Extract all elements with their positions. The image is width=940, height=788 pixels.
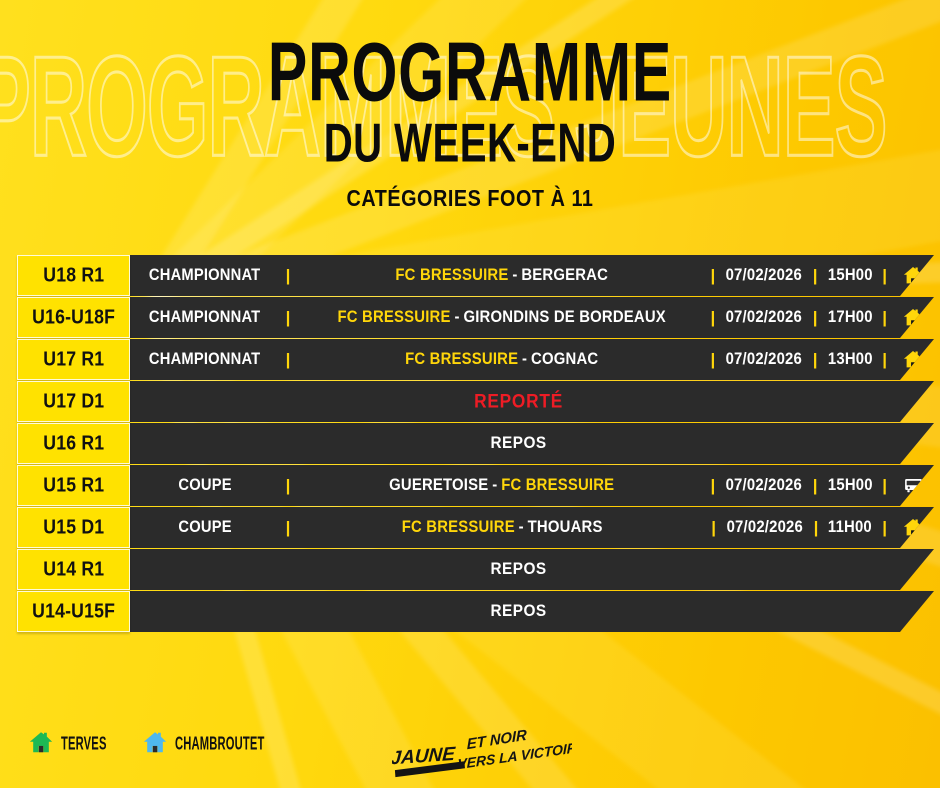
home-icon bbox=[896, 265, 930, 286]
separator-pipe: | bbox=[879, 267, 890, 284]
category-label: U17 R1 bbox=[43, 348, 104, 372]
legend-item: TERVES bbox=[28, 730, 118, 755]
match-team-away: BERGERAC bbox=[521, 266, 608, 285]
match-team-home: FC BRESSUIRE bbox=[405, 350, 518, 369]
house-icon bbox=[142, 730, 168, 755]
schedule-row: U14-U15FREPOS bbox=[0, 591, 940, 632]
match-meta: |07/02/2026|11H00| bbox=[708, 519, 896, 537]
separator-pipe: | bbox=[879, 351, 890, 368]
schedule-row: U18 R1CHAMPIONNAT|FC BRESSUIRE-BERGERAC|… bbox=[0, 255, 940, 296]
category-badge: U16 R1 bbox=[17, 423, 130, 464]
separator-pipe: | bbox=[879, 477, 890, 494]
separator: | bbox=[280, 309, 296, 326]
legend-label: TERVES bbox=[61, 732, 107, 753]
match-date: 07/02/2026 bbox=[720, 350, 808, 369]
separator-pipe: | bbox=[708, 519, 719, 536]
row-content-bar: REPOS bbox=[130, 549, 934, 590]
category-badge: U14 R1 bbox=[17, 549, 130, 590]
separator-pipe: | bbox=[284, 309, 293, 326]
separator-pipe: | bbox=[707, 351, 718, 368]
category-label: U16-U18F bbox=[32, 306, 115, 330]
match-meta: |07/02/2026|13H00| bbox=[707, 351, 896, 369]
schedule-row: U16 R1REPOS bbox=[0, 423, 940, 464]
status-postponed: REPORTÉ bbox=[146, 390, 918, 412]
schedule-row: U17 R1CHAMPIONNAT|FC BRESSUIRE-COGNAC|07… bbox=[0, 339, 940, 380]
competition-cell: COUPE bbox=[130, 477, 280, 495]
match-time: 17H00 bbox=[822, 308, 878, 327]
separator-pipe: | bbox=[707, 309, 718, 326]
row-content-bar: CHAMPIONNAT|FC BRESSUIRE-BERGERAC|07/02/… bbox=[130, 255, 934, 296]
separator-pipe: | bbox=[879, 519, 890, 536]
match-team-home: GUERETOISE bbox=[389, 476, 488, 495]
row-content-bar: COUPE|FC BRESSUIRE-THOUARS|07/02/2026|11… bbox=[130, 507, 934, 548]
separator: | bbox=[280, 267, 296, 284]
home-icon bbox=[896, 517, 930, 538]
match-dash: - bbox=[515, 518, 528, 537]
competition-label: CHAMPIONNAT bbox=[149, 308, 260, 327]
category-badge: U17 R1 bbox=[17, 339, 130, 380]
schedule-list: U18 R1CHAMPIONNAT|FC BRESSUIRE-BERGERAC|… bbox=[0, 255, 940, 633]
match-meta: |07/02/2026|15H00| bbox=[707, 267, 896, 285]
competition-label: CHAMPIONNAT bbox=[149, 266, 260, 285]
club-slogan: JAUNE ET NOIR VERS LA VICTOIRE! bbox=[392, 728, 572, 780]
category-label: U14-U15F bbox=[32, 600, 115, 624]
poster-header: PROGRAMME DU WEEK-END CATÉGORIES FOOT À … bbox=[0, 0, 940, 209]
schedule-row: U15 R1COUPE|GUERETOISE-FC BRESSUIRE|07/0… bbox=[0, 465, 940, 506]
bus-icon bbox=[896, 475, 930, 496]
status-rest: REPOS bbox=[146, 560, 918, 579]
status-rest: REPOS bbox=[146, 602, 918, 621]
separator: | bbox=[280, 477, 296, 494]
separator-pipe: | bbox=[810, 477, 821, 494]
page-kicker: CATÉGORIES FOOT À 11 bbox=[47, 167, 893, 210]
separator: | bbox=[280, 519, 296, 536]
schedule-row: U16-U18FCHAMPIONNAT|FC BRESSUIRE-GIRONDI… bbox=[0, 297, 940, 338]
category-badge: U15 D1 bbox=[17, 507, 130, 548]
row-content-bar: REPOS bbox=[130, 591, 934, 632]
category-badge: U16-U18F bbox=[17, 297, 130, 338]
competition-label: COUPE bbox=[178, 476, 231, 495]
match-dash: - bbox=[508, 266, 521, 285]
competition-label: COUPE bbox=[178, 518, 231, 537]
match-cell: FC BRESSUIRE-GIRONDINS DE BORDEAUX bbox=[304, 308, 699, 327]
venue-legend: TERVESCHAMBROUTET bbox=[28, 730, 287, 755]
match-date: 07/02/2026 bbox=[721, 518, 809, 537]
competition-label: CHAMPIONNAT bbox=[149, 350, 260, 369]
row-content-bar: REPOS bbox=[130, 423, 934, 464]
separator-pipe: | bbox=[284, 267, 293, 284]
match-cell: FC BRESSUIRE-THOUARS bbox=[304, 518, 700, 537]
row-content-bar: CHAMPIONNAT|FC BRESSUIRE-COGNAC|07/02/20… bbox=[130, 339, 934, 380]
category-label: U16 R1 bbox=[43, 432, 104, 456]
home-icon bbox=[896, 307, 930, 328]
schedule-row: U15 D1COUPE|FC BRESSUIRE-THOUARS|07/02/2… bbox=[0, 507, 940, 548]
competition-cell: CHAMPIONNAT bbox=[130, 309, 280, 327]
match-team-away: GIRONDINS DE BORDEAUX bbox=[463, 308, 665, 327]
row-content-bar: CHAMPIONNAT|FC BRESSUIRE-GIRONDINS DE BO… bbox=[130, 297, 934, 338]
category-badge: U14-U15F bbox=[17, 591, 130, 632]
competition-cell: COUPE bbox=[130, 519, 280, 537]
match-team-away: COGNAC bbox=[531, 350, 598, 369]
match-team-away: FC BRESSUIRE bbox=[501, 476, 614, 495]
category-label: U15 D1 bbox=[43, 516, 104, 540]
legend-item: CHAMBROUTET bbox=[142, 730, 287, 755]
match-dash: - bbox=[451, 308, 464, 327]
house-icon bbox=[28, 730, 54, 755]
match-cell: FC BRESSUIRE-COGNAC bbox=[304, 350, 699, 369]
category-badge: U18 R1 bbox=[17, 255, 130, 296]
match-time: 15H00 bbox=[822, 476, 878, 495]
match-meta: |07/02/2026|15H00| bbox=[707, 477, 896, 495]
match-date: 07/02/2026 bbox=[720, 476, 808, 495]
separator-pipe: | bbox=[707, 477, 718, 494]
category-label: U15 R1 bbox=[43, 474, 104, 498]
separator-pipe: | bbox=[810, 267, 821, 284]
separator-pipe: | bbox=[810, 309, 821, 326]
legend-label: CHAMBROUTET bbox=[175, 732, 264, 753]
match-team-home: FC BRESSUIRE bbox=[338, 308, 451, 327]
category-label: U17 D1 bbox=[43, 390, 104, 414]
match-time: 13H00 bbox=[822, 350, 878, 369]
page-subtitle: DU WEEK-END bbox=[85, 101, 856, 172]
match-cell: FC BRESSUIRE-BERGERAC bbox=[304, 266, 699, 285]
match-team-away: THOUARS bbox=[528, 518, 603, 537]
row-content-bar: COUPE|GUERETOISE-FC BRESSUIRE|07/02/2026… bbox=[130, 465, 934, 506]
separator-pipe: | bbox=[284, 519, 293, 536]
category-badge: U17 D1 bbox=[17, 381, 130, 422]
competition-cell: CHAMPIONNAT bbox=[130, 351, 280, 369]
poster-footer: TERVESCHAMBROUTET JAUNE ET NOIR VERS LA … bbox=[0, 726, 940, 788]
separator-pipe: | bbox=[810, 351, 821, 368]
separator-pipe: | bbox=[707, 267, 718, 284]
competition-cell: CHAMPIONNAT bbox=[130, 267, 280, 285]
category-label: U14 R1 bbox=[43, 558, 104, 582]
page-title: PROGRAMME bbox=[85, 0, 856, 114]
schedule-row: U17 D1REPORTÉ bbox=[0, 381, 940, 422]
match-cell: GUERETOISE-FC BRESSUIRE bbox=[304, 476, 699, 495]
separator-pipe: | bbox=[811, 519, 822, 536]
separator-pipe: | bbox=[284, 477, 293, 494]
match-time: 15H00 bbox=[822, 266, 878, 285]
match-date: 07/02/2026 bbox=[720, 266, 808, 285]
schedule-row: U14 R1REPOS bbox=[0, 549, 940, 590]
match-dash: - bbox=[518, 350, 531, 369]
poster-canvas: PROGRAMMES JEUNES PROGRAMME DU WEEK-END … bbox=[0, 0, 940, 788]
home-icon bbox=[896, 349, 930, 370]
match-team-home: FC BRESSUIRE bbox=[402, 518, 515, 537]
status-rest: REPOS bbox=[146, 434, 918, 453]
match-team-home: FC BRESSUIRE bbox=[395, 266, 508, 285]
category-label: U18 R1 bbox=[43, 264, 104, 288]
match-date: 07/02/2026 bbox=[720, 308, 808, 327]
separator-pipe: | bbox=[879, 309, 890, 326]
match-time: 11H00 bbox=[823, 518, 879, 537]
match-dash: - bbox=[488, 476, 501, 495]
match-meta: |07/02/2026|17H00| bbox=[707, 309, 896, 327]
category-badge: U15 R1 bbox=[17, 465, 130, 506]
separator: | bbox=[280, 351, 296, 368]
row-content-bar: REPORTÉ bbox=[130, 381, 934, 422]
separator-pipe: | bbox=[284, 351, 293, 368]
